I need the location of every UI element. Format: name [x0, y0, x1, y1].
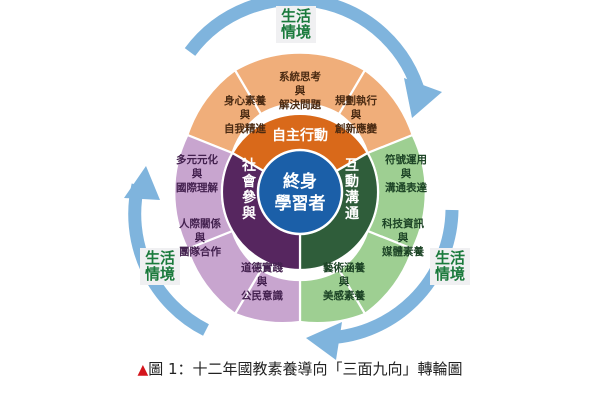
svg-text:與: 與: [257, 275, 268, 288]
svg-text:與: 與: [401, 167, 412, 180]
svg-text:與: 與: [195, 231, 206, 244]
svg-text:與: 與: [240, 108, 251, 121]
svg-text:多元元化: 多元元化: [176, 153, 218, 166]
core-circle[interactable]: [258, 150, 342, 234]
svg-text:會: 會: [241, 173, 257, 190]
svg-text:身心素養: 身心素養: [224, 94, 266, 107]
svg-text:創新應變: 創新應變: [334, 122, 377, 135]
caption-triangle-icon: ▲: [137, 362, 148, 378]
svg-text:藝術涵養: 藝術涵養: [323, 261, 365, 274]
svg-text:國際理解: 國際理解: [176, 181, 218, 194]
svg-text:溝: 溝: [345, 189, 359, 206]
svg-text:社: 社: [241, 157, 256, 174]
svg-text:自我精進: 自我精進: [224, 122, 266, 135]
svg-text:團隊合作: 團隊合作: [179, 245, 221, 258]
svg-text:解決問題: 解決問題: [278, 98, 321, 111]
svg-text:溝通表達: 溝通表達: [385, 181, 427, 194]
svg-text:科技資訊: 科技資訊: [382, 217, 424, 230]
core-label-line2: 學習者: [275, 193, 326, 214]
svg-text:通: 通: [345, 206, 359, 222]
context-label-right: 生活 情境: [430, 248, 470, 285]
svg-text:人際關係: 人際關係: [179, 217, 221, 230]
svg-text:與: 與: [242, 205, 256, 222]
svg-text:與: 與: [351, 108, 362, 121]
svg-text:與: 與: [398, 231, 409, 244]
competency-wheel-diagram: 終身 學習者 自主行動 互 動 溝 通 社 會 參 與 身心素養 與 自我精進 …: [0, 0, 600, 400]
figure-caption: ▲圖 1：十二年國教素養導向「三面九向」轉輪圖: [0, 358, 600, 379]
svg-text:道德實踐: 道德實踐: [241, 261, 283, 274]
dimension-label-participation: 社 會 參 與: [241, 157, 257, 222]
svg-text:公民意識: 公民意識: [241, 289, 283, 302]
svg-text:參: 參: [242, 189, 257, 206]
caption-text: 圖 1：十二年國教素養導向「三面九向」轉輪圖: [148, 360, 462, 378]
svg-text:媒體素養: 媒體素養: [381, 245, 424, 258]
svg-text:美感素養: 美感素養: [323, 289, 365, 302]
svg-text:互: 互: [345, 158, 359, 174]
svg-text:與: 與: [295, 84, 306, 97]
context-label-top: 生活 情境: [276, 6, 316, 43]
figure-stage: 終身 學習者 自主行動 互 動 溝 通 社 會 參 與 身心素養 與 自我精進 …: [0, 0, 600, 400]
svg-text:符號運用: 符號運用: [385, 153, 427, 166]
svg-text:規劃執行: 規劃執行: [335, 94, 377, 107]
core-label-line1: 終身: [283, 171, 317, 192]
context-label-left: 生活 情境: [140, 248, 180, 285]
svg-text:與: 與: [192, 167, 203, 180]
dimension-label-communication: 互 動 溝 通: [345, 158, 359, 222]
svg-text:與: 與: [339, 275, 350, 288]
svg-text:系統思考: 系統思考: [279, 70, 321, 83]
svg-text:動: 動: [345, 173, 359, 190]
dimension-label-autonomy: 自主行動: [272, 127, 328, 144]
